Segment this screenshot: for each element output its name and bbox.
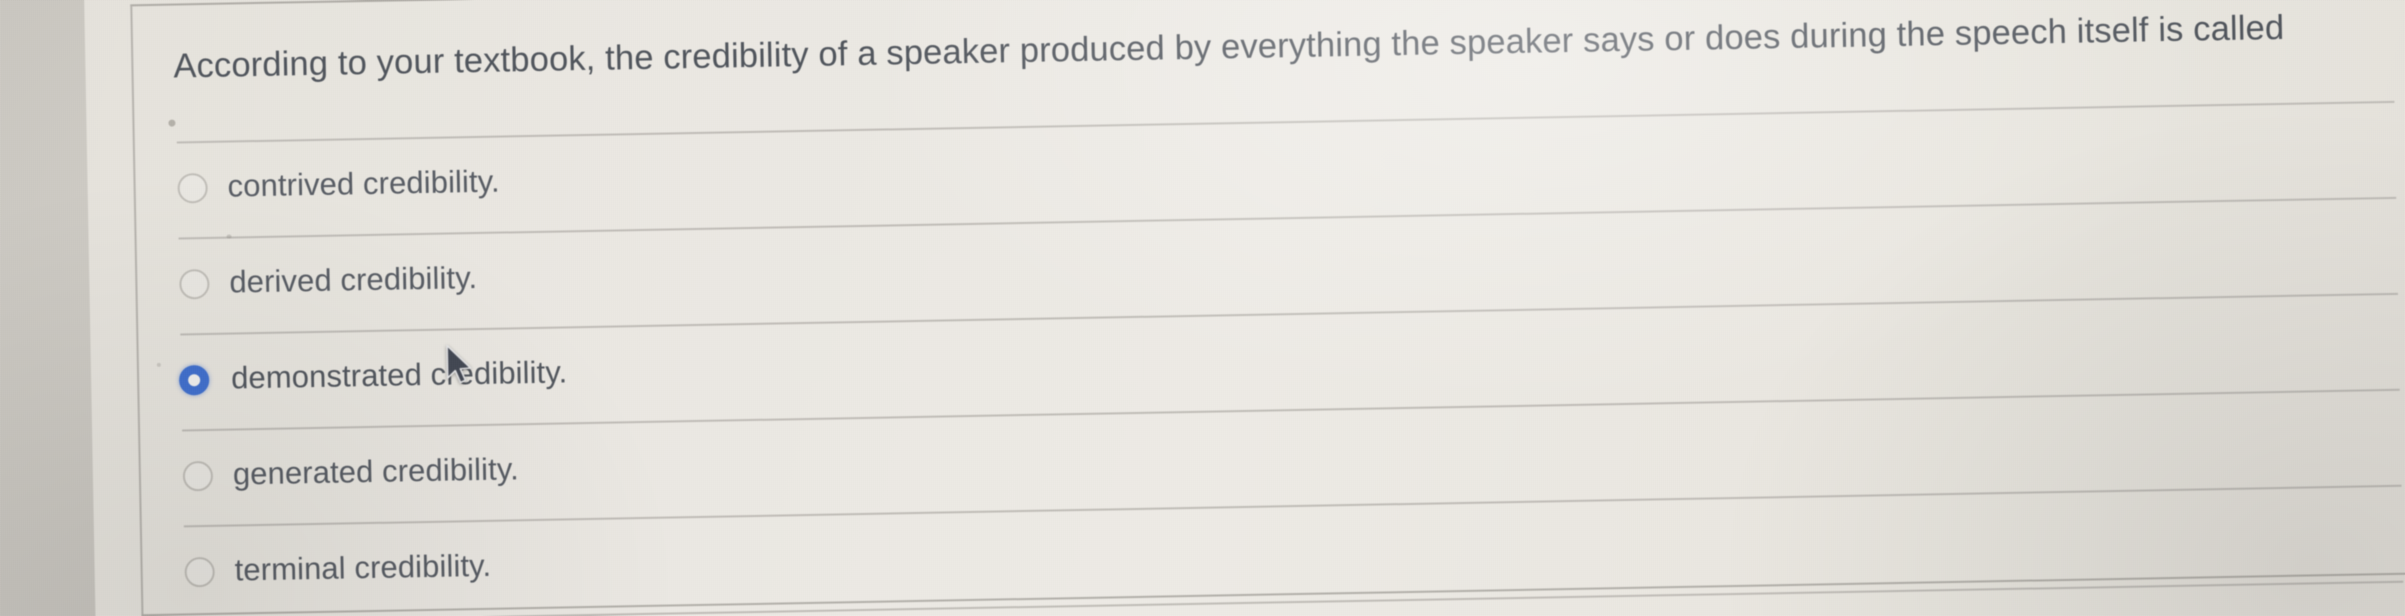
question-text: According to your textbook, the credibil… xyxy=(173,3,2405,91)
radio-button-selected-icon[interactable] xyxy=(179,365,210,396)
answer-options-list: contrived credibility.derived credibilit… xyxy=(135,100,2405,142)
radio-button-icon[interactable] xyxy=(184,557,215,588)
answer-option-label: demonstrated credibility. xyxy=(231,354,568,396)
answer-option-label: derived credibility. xyxy=(229,260,477,301)
answer-option-label: contrived credibility. xyxy=(227,164,500,205)
answer-option-label: generated credibility. xyxy=(233,451,520,492)
dust-speck xyxy=(157,363,161,367)
radio-button-icon[interactable] xyxy=(179,269,210,300)
screenshot-photo: According to your textbook, the credibil… xyxy=(0,0,2405,616)
monitor-screen: According to your textbook, the credibil… xyxy=(0,0,2405,616)
dust-speck xyxy=(168,120,175,127)
mouse-cursor-icon xyxy=(445,343,476,388)
question-card: According to your textbook, the credibil… xyxy=(130,0,2405,616)
radio-button-icon[interactable] xyxy=(177,173,208,204)
radio-button-icon[interactable] xyxy=(183,461,214,492)
answer-option-label: terminal credibility. xyxy=(234,548,491,589)
